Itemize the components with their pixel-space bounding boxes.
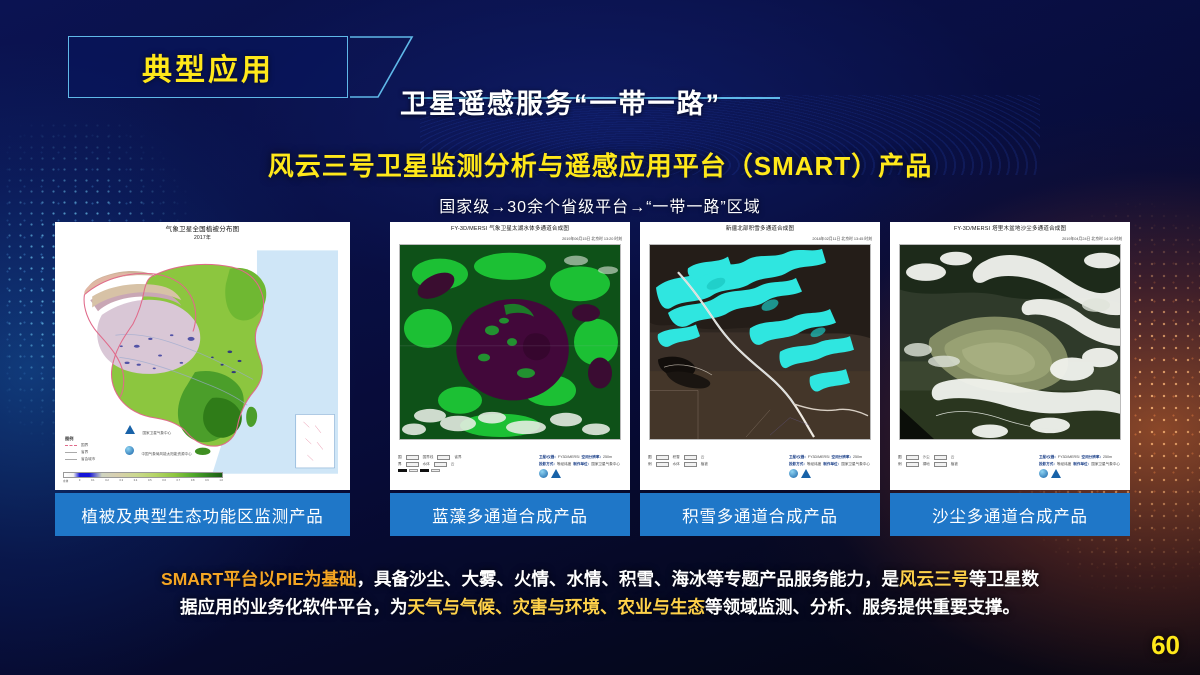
lg2-chip-1-1: 云	[451, 462, 455, 467]
header-badge: 典型应用	[68, 36, 348, 98]
lg4-k-0: 卫星/仪器：	[1039, 455, 1058, 459]
lg3-chip-1-1: 植被	[701, 462, 708, 467]
panel-caption-vegetation: 植被及典型生态功能区监测产品	[55, 493, 350, 536]
cb-tick-2: 0.1	[91, 479, 95, 485]
cb-tick-4: 0.3	[119, 479, 123, 485]
product-panel-grid: 气象卫星全国植被分布图 2017年	[55, 222, 1145, 536]
lg4-key-1: 例	[898, 462, 902, 467]
org2-label: 中国气象局风能太阳能资源中心	[141, 452, 191, 456]
footnote-end-1: 等卫星数	[969, 569, 1039, 589]
lg2-v-2: 等经纬度	[557, 462, 571, 466]
fig3-title: 新疆北部积雪多通道合成图	[640, 226, 880, 233]
footnote-highlight-3: 天气与气候、灾害与环境、农业与生态	[408, 597, 706, 617]
lg4-chip-0-0: 沙尘	[923, 455, 930, 460]
footnote-mid-1: ，具备沙尘、大雾、火情、水情、积雪、海冰等专题产品服务能力，是	[356, 569, 899, 589]
lg4-chip-1-0: 裸地	[923, 462, 930, 467]
fig4-title: FY-3D/MERSI 塔里木盆地沙尘多通道合成图	[890, 226, 1130, 233]
cb-tick-6: 0.5	[148, 479, 152, 485]
product-panel-snow[interactable]: 新疆北部积雪多通道合成图 2018年02月11日 北京时 13:45 时刻	[640, 222, 880, 536]
page-title: 风云三号卫星监测分析与遥感应用平台（SMART）产品	[0, 146, 1200, 183]
slide-root: 典型应用 卫星遥感服务“一带一路” 风云三号卫星监测分析与遥感应用平台（SMAR…	[0, 0, 1200, 675]
lg2-chip-1-0: 水体	[423, 462, 430, 467]
lg3-chip-0-1: 云	[701, 455, 705, 460]
lg4-key-0: 图	[898, 455, 902, 460]
caption-text-2: 积雪多通道合成产品	[682, 503, 838, 527]
fig4-org-tri-icon	[1051, 469, 1061, 478]
cb-tick-1: 0	[79, 479, 80, 485]
product-panel-dust[interactable]: FY-3D/MERSI 塔里木盆地沙尘多通道合成图 2019年04月24日 北京…	[890, 222, 1130, 536]
cb-tick-11: 1.0	[219, 479, 223, 485]
cb-tick-0: 水体	[63, 479, 68, 485]
lg4-v-0: FY3D/MERSI	[1058, 455, 1080, 459]
cb-tick-10: 0.9	[205, 479, 209, 485]
lg4-k-3: 制作单位：	[1073, 462, 1091, 466]
caption-text-0: 植被及典型生态功能区监测产品	[81, 503, 323, 527]
cb-tick-3: 0.2	[105, 479, 109, 485]
lg3-k-1: 空间分辨率：	[831, 455, 853, 459]
lg4-k-1: 空间分辨率：	[1081, 455, 1103, 459]
lg4-v-3: 国家卫星气象中心	[1091, 462, 1120, 466]
page-subtitle: 国家级→30余个省级平台→“一带一路”区域	[0, 193, 1200, 217]
lg2-v-1: 250m	[603, 455, 612, 459]
cb-tick-8: 0.7	[177, 479, 181, 485]
fig2-subtitle: 2019年06月15日 北京时 13:20 时刻	[562, 237, 622, 242]
lg3-v-3: 国家卫星气象中心	[841, 462, 870, 466]
footnote-start-2: 据应用的业务化软件平台，为	[180, 597, 408, 617]
fig2-org-tri-icon	[551, 469, 561, 478]
snow-raster	[649, 244, 871, 440]
lg4-k-2: 投影方式：	[1039, 462, 1057, 466]
footnote-highlight-2: 风云三号	[899, 569, 969, 589]
page-number: 60	[1151, 630, 1180, 661]
figure2-legend: 国 国界线 省界 界 水体 云	[396, 455, 624, 487]
lg2-v-3: 国家卫星气象中心	[591, 462, 620, 466]
fig4-org-circle-icon	[1039, 469, 1048, 478]
cb-tick-9: 0.8	[191, 479, 195, 485]
legend-item-0: 国界	[81, 443, 88, 448]
fig3-org-circle-icon	[789, 469, 798, 478]
org1-logo-icon	[125, 425, 135, 434]
lg2-chip-0-0: 国界线	[423, 455, 434, 460]
legend-item-1: 省界	[81, 450, 88, 455]
lg4-chip-1-1: 植被	[951, 462, 958, 467]
lg2-k-0: 卫星/仪器：	[539, 455, 558, 459]
lg3-key-1: 例	[648, 462, 652, 467]
algae-raster	[399, 244, 621, 440]
footnote-end-2: 等领域监测、分析、服务提供重要支撑。	[705, 597, 1020, 617]
fig1-year: 2017年	[194, 235, 211, 241]
lg2-v-0: FY3D/MERSI	[558, 455, 580, 459]
header-title: 卫星遥感服务“一带一路”	[400, 82, 721, 121]
vegetation-colorbar-ticks: 水体 0 0.1 0.2 0.3 0.4 0.5 0.6 0.7 0.8 0.9…	[63, 479, 223, 485]
slide-header: 典型应用 卫星遥感服务“一带一路”	[0, 30, 1200, 108]
lg2-key-1: 界	[398, 462, 402, 467]
fig1-title: 气象卫星全国植被分布图	[166, 226, 240, 233]
panel-caption-algae: 蓝藻多通道合成产品	[390, 493, 630, 536]
caption-text-3: 沙尘多通道合成产品	[932, 503, 1088, 527]
header-badge-label: 典型应用	[142, 45, 274, 89]
product-panel-vegetation[interactable]: 气象卫星全国植被分布图 2017年	[55, 222, 350, 536]
lg3-chip-0-0: 积雪	[673, 455, 680, 460]
org2-logo-icon	[125, 446, 134, 455]
fig2-org-circle-icon	[539, 469, 548, 478]
lg3-v-2: 等经纬度	[807, 462, 821, 466]
lg2-k-2: 投影方式：	[539, 462, 557, 466]
figure-dust-composite: FY-3D/MERSI 塔里木盆地沙尘多通道合成图 2019年04月24日 北京…	[890, 222, 1130, 490]
figure-snow-composite: 新疆北部积雪多通道合成图 2018年02月11日 北京时 13:45 时刻	[640, 222, 880, 490]
lg2-chip-0-1: 省界	[454, 455, 461, 460]
figure1-org-block: 国家卫星气象中心 中国气象局风能太阳能资源中心	[125, 421, 192, 460]
lg3-v-1: 250m	[853, 455, 862, 459]
product-panel-algae[interactable]: FY-3D/MERSI 气象卫星太湖水体多通道合成图 2019年06月15日 北…	[390, 222, 630, 536]
fig3-subtitle: 2018年02月11日 北京时 13:45 时刻	[812, 237, 872, 242]
lg3-k-2: 投影方式：	[789, 462, 807, 466]
fig4-subtitle: 2019年04月24日 北京时 14:10 时刻	[1062, 237, 1122, 242]
legend-item-2: 省会城市	[81, 457, 95, 462]
panel-caption-dust: 沙尘多通道合成产品	[890, 493, 1130, 536]
lg4-v-1: 250m	[1103, 455, 1112, 459]
lg4-v-2: 等经纬度	[1057, 462, 1071, 466]
lg2-k-1: 空间分辨率：	[581, 455, 603, 459]
vegetation-colorbar	[63, 472, 223, 478]
org1-label: 国家卫星气象中心	[142, 431, 171, 435]
footnote-text: SMART平台以PIE为基础，具备沙尘、大雾、火情、水情、积雪、海冰等专题产品服…	[90, 565, 1110, 622]
cb-tick-7: 0.6	[162, 479, 166, 485]
lg2-k-3: 制作单位：	[573, 462, 591, 466]
lg3-chip-1-0: 水体	[673, 462, 680, 467]
lg3-key-0: 图	[648, 455, 652, 460]
fig2-title: FY-3D/MERSI 气象卫星太湖水体多通道合成图	[390, 226, 630, 233]
dust-raster	[899, 244, 1121, 440]
caption-text-1: 蓝藻多通道合成产品	[432, 503, 588, 527]
lg3-k-3: 制作单位：	[823, 462, 841, 466]
cb-tick-5: 0.4	[134, 479, 138, 485]
lg2-key-0: 国	[398, 455, 402, 460]
lg3-k-0: 卫星/仪器：	[789, 455, 808, 459]
lg3-v-0: FY3D/MERSI	[808, 455, 830, 459]
figure4-legend: 图 沙尘 云 例 裸地 植被 卫星/仪器：FY3D/MERSI 空间分辨率：25…	[896, 455, 1124, 487]
footnote-highlight-1: SMART平台以PIE为基础	[161, 569, 356, 589]
panel-caption-snow: 积雪多通道合成产品	[640, 493, 880, 536]
figure-algae-composite: FY-3D/MERSI 气象卫星太湖水体多通道合成图 2019年06月15日 北…	[390, 222, 630, 490]
lg4-chip-0-1: 云	[951, 455, 955, 460]
figure-vegetation-map: 气象卫星全国植被分布图 2017年	[55, 222, 350, 490]
figure3-legend: 图 积雪 云 例 水体 植被 卫星/仪器：FY3D/MERSI 空间分辨率：25…	[646, 455, 874, 487]
fig3-org-tri-icon	[801, 469, 811, 478]
